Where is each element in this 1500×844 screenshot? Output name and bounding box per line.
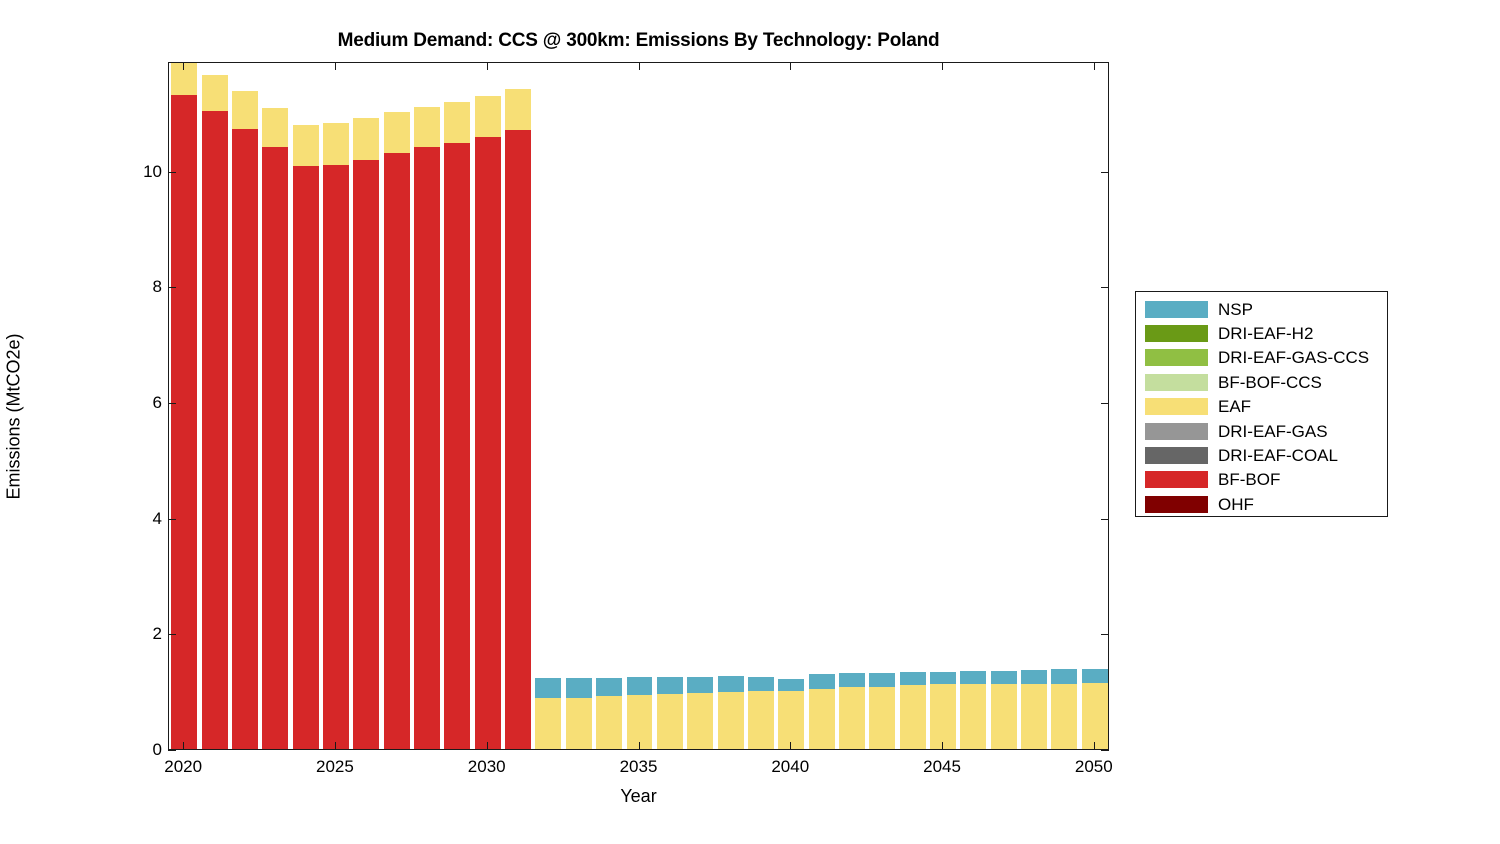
y-tick-mark <box>1101 634 1109 635</box>
bar-segment <box>960 671 986 684</box>
legend-item[interactable]: EAF <box>1145 395 1387 419</box>
bar-segment <box>293 166 319 749</box>
legend-color-swatch <box>1145 447 1208 464</box>
bar-segment <box>778 691 804 749</box>
bar-group <box>748 62 774 749</box>
bar-segment <box>505 89 531 130</box>
bar-group <box>384 62 410 749</box>
bar-group <box>171 62 197 749</box>
bar-segment <box>1021 684 1047 749</box>
bar-segment <box>869 687 895 749</box>
y-tick-mark <box>168 519 176 520</box>
bar-group <box>960 62 986 749</box>
bar-segment <box>444 102 470 142</box>
y-tick-mark <box>168 403 176 404</box>
bar-segment <box>566 678 592 697</box>
bar-segment <box>748 677 774 691</box>
bar-segment <box>414 147 440 749</box>
x-tick-mark <box>1094 62 1095 70</box>
legend-item-label: BF-BOF <box>1218 471 1280 488</box>
legend-item[interactable]: BF-BOF <box>1145 468 1387 492</box>
bar-segment <box>384 153 410 749</box>
bar-group <box>687 62 713 749</box>
legend: NSPDRI-EAF-H2DRI-EAF-GAS-CCSBF-BOF-CCSEA… <box>1135 291 1388 517</box>
bar-group <box>718 62 744 749</box>
bar-segment <box>262 108 288 147</box>
bar-segment <box>505 130 531 749</box>
bar-segment <box>930 684 956 749</box>
bar-group <box>202 62 228 749</box>
legend-item-label: DRI-EAF-COAL <box>1218 447 1338 464</box>
bar-group <box>444 62 470 749</box>
x-tick-mark <box>942 742 943 750</box>
bar-segment <box>809 674 835 688</box>
bar-segment <box>900 672 926 685</box>
y-tick-mark <box>168 172 176 173</box>
chart-page: Medium Demand: CCS @ 300km: Emissions By… <box>0 0 1500 844</box>
legend-item[interactable]: OHF <box>1145 492 1387 516</box>
bar-segment <box>535 678 561 697</box>
bar-segment <box>778 679 804 691</box>
bar-group <box>1051 62 1077 749</box>
bar-group <box>505 62 531 749</box>
bar-segment <box>262 147 288 749</box>
x-tick-mark <box>487 62 488 70</box>
legend-item[interactable]: DRI-EAF-H2 <box>1145 321 1387 345</box>
bar-segment <box>1021 670 1047 684</box>
bar-segment <box>202 75 228 111</box>
bar-segment <box>475 137 501 749</box>
bar-segment <box>657 694 683 749</box>
bar-group <box>414 62 440 749</box>
y-tick-label: 6 <box>153 393 162 413</box>
y-tick-mark <box>168 750 176 751</box>
y-tick-mark <box>1101 519 1109 520</box>
bar-group <box>535 62 561 749</box>
bar-segment <box>627 677 653 695</box>
x-tick-label: 2040 <box>771 757 809 777</box>
x-tick-label: 2050 <box>1075 757 1113 777</box>
bar-segment <box>232 129 258 749</box>
legend-color-swatch <box>1145 398 1208 415</box>
bar-segment <box>930 672 956 684</box>
legend-item-label: EAF <box>1218 398 1251 415</box>
x-tick-mark <box>335 742 336 750</box>
bar-segment <box>596 696 622 749</box>
bar-segment <box>1051 684 1077 749</box>
x-tick-label: 2035 <box>620 757 658 777</box>
y-tick-label: 8 <box>153 277 162 297</box>
legend-item-label: DRI-EAF-GAS <box>1218 423 1328 440</box>
legend-item-label: DRI-EAF-GAS-CCS <box>1218 349 1369 366</box>
bar-group <box>900 62 926 749</box>
legend-item[interactable]: BF-BOF-CCS <box>1145 370 1387 394</box>
bar-segment <box>809 689 835 749</box>
x-tick-mark <box>790 742 791 750</box>
bar-segment <box>353 160 379 749</box>
bar-segment <box>960 684 986 749</box>
bar-segment <box>384 112 410 153</box>
legend-color-swatch <box>1145 349 1208 366</box>
legend-color-swatch <box>1145 496 1208 513</box>
chart-title: Medium Demand: CCS @ 300km: Emissions By… <box>168 30 1109 52</box>
bar-segment <box>687 677 713 693</box>
x-tick-label: 2045 <box>923 757 961 777</box>
legend-item-label: OHF <box>1218 496 1254 513</box>
legend-color-swatch <box>1145 325 1208 342</box>
bar-segment <box>869 673 895 686</box>
bar-segment <box>475 96 501 136</box>
x-tick-mark <box>183 62 184 70</box>
bar-group <box>1082 62 1108 749</box>
x-tick-mark <box>183 742 184 750</box>
bar-group <box>353 62 379 749</box>
legend-item[interactable]: DRI-EAF-GAS-CCS <box>1145 346 1387 370</box>
legend-color-swatch <box>1145 301 1208 318</box>
bars-layer <box>169 63 1108 749</box>
y-tick-label: 4 <box>153 509 162 529</box>
y-tick-mark <box>1101 287 1109 288</box>
bar-segment <box>718 692 744 749</box>
bar-segment <box>1082 683 1108 749</box>
x-tick-label: 2020 <box>164 757 202 777</box>
bar-group <box>869 62 895 749</box>
legend-color-swatch <box>1145 374 1208 391</box>
bar-segment <box>1082 669 1108 683</box>
bar-group <box>657 62 683 749</box>
bar-segment <box>748 691 774 749</box>
legend-item[interactable]: DRI-EAF-COAL <box>1145 443 1387 467</box>
bar-group <box>323 62 349 749</box>
bar-segment <box>566 698 592 749</box>
y-tick-mark <box>1101 172 1109 173</box>
bar-group <box>627 62 653 749</box>
y-tick-mark <box>168 634 176 635</box>
x-tick-mark <box>639 62 640 70</box>
bar-group <box>232 62 258 749</box>
x-tick-label: 2030 <box>468 757 506 777</box>
x-tick-mark <box>942 62 943 70</box>
y-tick-mark <box>168 287 176 288</box>
bar-segment <box>353 118 379 160</box>
y-tick-label: 10 <box>143 162 162 182</box>
bar-segment <box>900 685 926 749</box>
bar-segment <box>991 671 1017 684</box>
bar-segment <box>657 677 683 694</box>
bar-segment <box>839 673 865 686</box>
bar-segment <box>232 91 258 130</box>
bar-segment <box>535 698 561 749</box>
bar-group <box>475 62 501 749</box>
y-tick-label: 2 <box>153 624 162 644</box>
bar-segment <box>627 695 653 749</box>
bar-group <box>778 62 804 749</box>
x-axis-title: Year <box>168 786 1109 807</box>
legend-color-swatch <box>1145 471 1208 488</box>
legend-item[interactable]: NSP <box>1145 297 1387 321</box>
x-tick-mark <box>639 742 640 750</box>
bar-group <box>991 62 1017 749</box>
bar-segment <box>323 123 349 164</box>
bar-group <box>930 62 956 749</box>
bar-group <box>566 62 592 749</box>
bar-segment <box>991 684 1017 749</box>
x-tick-mark <box>1094 742 1095 750</box>
x-tick-label: 2025 <box>316 757 354 777</box>
bar-group <box>839 62 865 749</box>
bar-group <box>1021 62 1047 749</box>
bar-group <box>293 62 319 749</box>
bar-segment <box>171 95 197 749</box>
y-axis-title: Emissions (MtCO2e) <box>4 207 25 627</box>
bar-segment <box>718 676 744 692</box>
x-tick-mark <box>790 62 791 70</box>
plot-area <box>168 62 1109 750</box>
legend-item-label: DRI-EAF-H2 <box>1218 325 1313 342</box>
bar-segment <box>1051 669 1077 683</box>
legend-item-label: BF-BOF-CCS <box>1218 374 1322 391</box>
bar-segment <box>323 165 349 750</box>
bar-segment <box>414 107 440 147</box>
bar-segment <box>596 678 622 696</box>
bar-group <box>262 62 288 749</box>
bar-segment <box>202 111 228 749</box>
bar-segment <box>687 693 713 749</box>
bar-segment <box>444 143 470 749</box>
y-tick-label: 0 <box>153 740 162 760</box>
bar-group <box>596 62 622 749</box>
legend-item[interactable]: DRI-EAF-GAS <box>1145 419 1387 443</box>
x-tick-mark <box>335 62 336 70</box>
legend-color-swatch <box>1145 423 1208 440</box>
y-tick-mark <box>1101 403 1109 404</box>
legend-item-label: NSP <box>1218 301 1253 318</box>
bar-group <box>809 62 835 749</box>
bar-segment <box>839 687 865 749</box>
bar-segment <box>293 125 319 165</box>
x-tick-mark <box>487 742 488 750</box>
y-tick-mark <box>1101 750 1109 751</box>
